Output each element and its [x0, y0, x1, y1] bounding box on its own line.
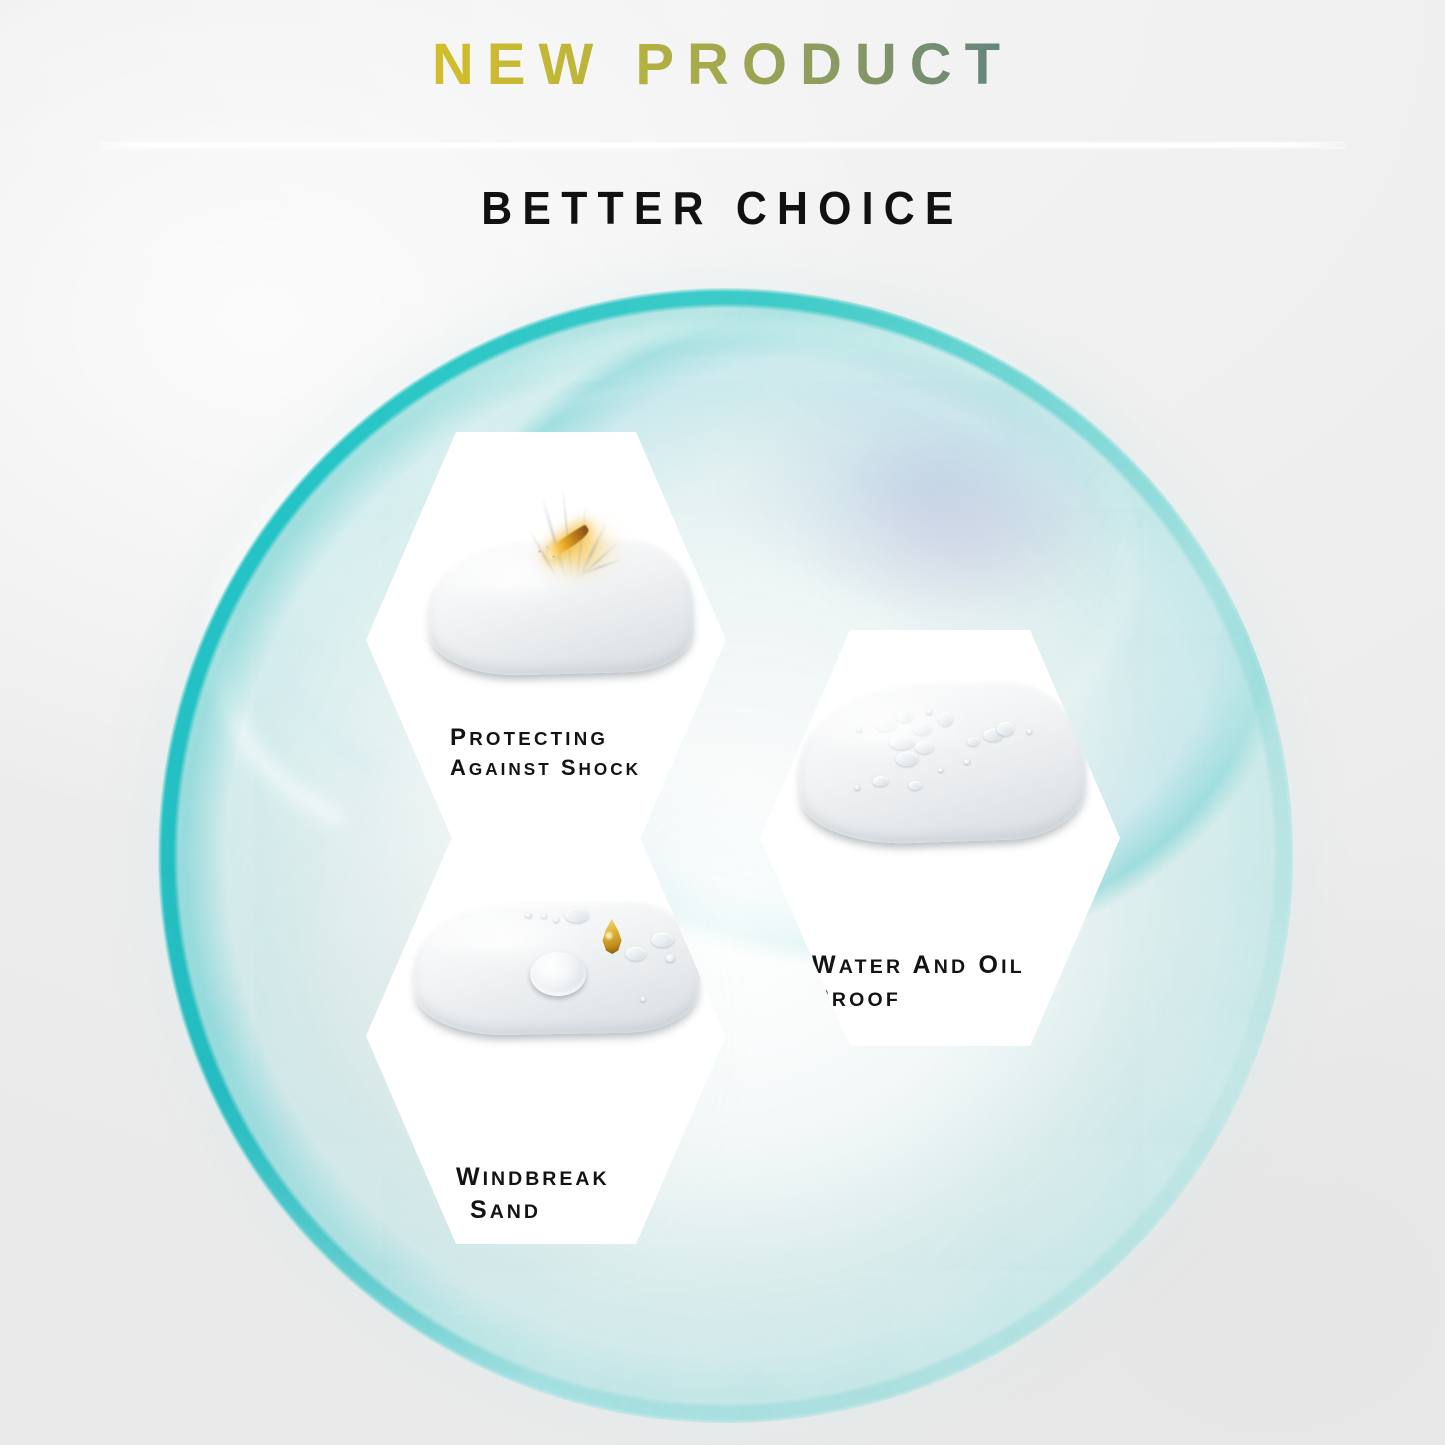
large-water-droplet: [530, 951, 587, 996]
water-bead: [857, 727, 862, 732]
water-bead: [553, 918, 559, 922]
oil-droplet: [599, 919, 625, 954]
water-droplet: [938, 712, 952, 726]
water-bead: [525, 912, 532, 917]
soap-bubble-graphic: [158, 288, 1293, 1423]
water-bead: [541, 914, 547, 918]
water-droplet: [896, 711, 912, 723]
water-bead: [666, 954, 675, 962]
water-bead: [641, 996, 646, 1001]
water-droplet: [626, 946, 646, 960]
water-droplet: [909, 781, 922, 790]
water-droplet: [874, 718, 896, 732]
lens-shock-image: [426, 537, 695, 678]
water-bead: [1027, 729, 1032, 734]
water-droplet: [565, 907, 589, 922]
lens-water-image: [795, 677, 1088, 847]
page-subtitle: BETTER CHOICE: [51, 185, 1395, 231]
water-droplet: [967, 737, 979, 746]
water-droplet: [915, 740, 933, 754]
lens-windbreak-image: [413, 900, 701, 1037]
water-droplet: [913, 722, 932, 735]
water-bead: [938, 768, 943, 772]
feature-caption-water-oil-line1: WATER AND OIL: [812, 951, 1025, 979]
page-title: NEW PRODUCT: [0, 36, 1445, 94]
water-droplet: [872, 776, 888, 787]
feature-caption-windbreak-line1: WINDBREAK: [456, 1163, 610, 1191]
feature-caption-shock-line1: PROTECTING: [450, 724, 608, 751]
water-droplet: [997, 721, 1014, 736]
water-droplet: [896, 751, 919, 767]
water-bead: [926, 708, 932, 714]
water-bead: [855, 785, 860, 790]
water-droplet: [889, 735, 914, 750]
bubble-rim: [158, 288, 1293, 1423]
header-divider: [100, 143, 1345, 147]
water-droplet: [651, 932, 673, 947]
water-bead: [964, 759, 970, 764]
